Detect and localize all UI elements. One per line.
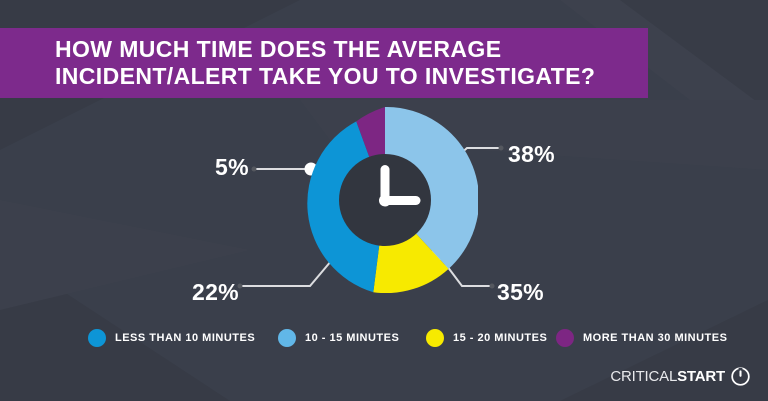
title-line-2: INCIDENT/ALERT TAKE YOU TO INVESTIGATE?: [55, 63, 635, 90]
logo-word-critical: CRITICAL: [610, 368, 677, 385]
legend-item-10-15-minutes[interactable]: 10 - 15 MINUTES: [278, 326, 399, 350]
legend-item-label: MORE THAN 30 MINUTES: [583, 332, 727, 344]
power-button-icon: [731, 367, 750, 386]
legend-item-label: 15 - 20 MINUTES: [453, 332, 547, 344]
legend-item-label: 10 - 15 MINUTES: [305, 332, 399, 344]
chart-legend: LESS THAN 10 MINUTES 10 - 15 MINUTES 15 …: [88, 326, 698, 350]
title-line-1: HOW MUCH TIME DOES THE AVERAGE: [55, 36, 635, 63]
logo-word-start: START: [677, 368, 725, 385]
legend-item-more-than-30-minutes[interactable]: MORE THAN 30 MINUTES: [556, 326, 727, 350]
brand-logo[interactable]: CRITICALSTART: [610, 365, 750, 387]
donut-svg: [292, 107, 478, 293]
callout-label-38: 38%: [508, 141, 555, 168]
legend-item-15-20-minutes[interactable]: 15 - 20 MINUTES: [426, 326, 547, 350]
legend-dot-icon: [278, 329, 296, 347]
callout-label-22: 22%: [192, 279, 239, 306]
legend-item-label: LESS THAN 10 MINUTES: [115, 332, 255, 344]
legend-item-less-than-10-minutes[interactable]: LESS THAN 10 MINUTES: [88, 326, 255, 350]
infographic-canvas: HOW MUCH TIME DOES THE AVERAGE INCIDENT/…: [0, 0, 768, 401]
legend-dot-icon: [88, 329, 106, 347]
callout-label-5: 5%: [215, 154, 249, 181]
donut-chart: [292, 107, 478, 293]
legend-dot-icon: [426, 329, 444, 347]
page-title: HOW MUCH TIME DOES THE AVERAGE INCIDENT/…: [55, 36, 635, 90]
legend-dot-icon: [556, 329, 574, 347]
callout-label-35: 35%: [497, 279, 544, 306]
